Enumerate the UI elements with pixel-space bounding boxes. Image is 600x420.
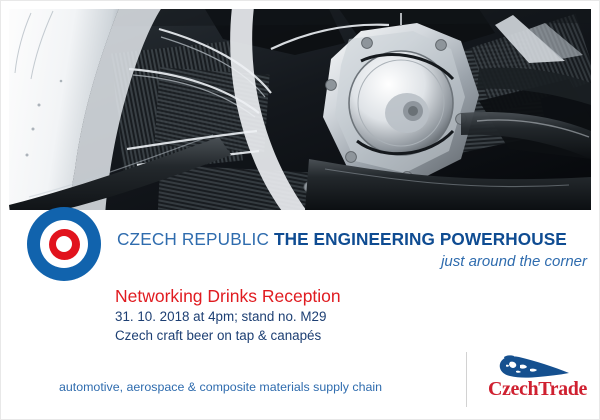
czech-republic-roundel-icon bbox=[27, 207, 101, 281]
brand-headline-country: CZECH REPUBLIC bbox=[117, 229, 274, 249]
event-flyer: CZECH REPUBLIC THE ENGINEERING POWERHOUS… bbox=[0, 0, 600, 420]
event-title: Networking Drinks Reception bbox=[115, 286, 341, 307]
brand-headline: CZECH REPUBLIC THE ENGINEERING POWERHOUS… bbox=[117, 229, 587, 250]
event-datetime-stand: 31. 10. 2018 at 4pm; stand no. M29 bbox=[115, 309, 326, 324]
czechtrade-wordmark: CzechTrade bbox=[488, 378, 586, 401]
brand-tagline: just around the corner bbox=[117, 253, 587, 270]
czechtrade-logo: CzechTrade bbox=[488, 354, 586, 402]
event-refreshments: Czech craft beer on tap & canapés bbox=[115, 328, 321, 343]
czechtrade-mark-illustration bbox=[494, 354, 572, 380]
brand-headline-slogan: THE ENGINEERING POWERHOUSE bbox=[274, 229, 567, 249]
czechtrade-globe-swoosh-icon bbox=[494, 354, 572, 380]
footer-divider bbox=[466, 352, 467, 407]
radial-aircraft-engine-photo bbox=[9, 9, 591, 210]
engine-photo-illustration bbox=[9, 9, 591, 210]
roundel-center-dot bbox=[56, 236, 72, 252]
supply-chain-tagline: automotive, aerospace & composite materi… bbox=[59, 380, 382, 394]
